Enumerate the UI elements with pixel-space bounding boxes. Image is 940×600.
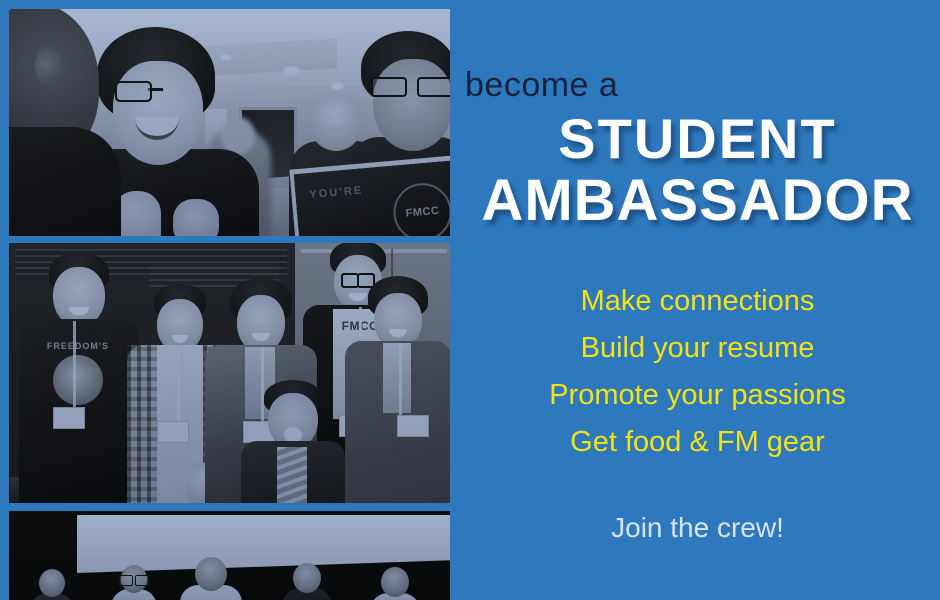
name-badge bbox=[397, 415, 429, 437]
reading-student-face bbox=[373, 59, 450, 151]
glasses-icon bbox=[119, 575, 149, 584]
head bbox=[381, 567, 409, 597]
smiling-student-face bbox=[113, 61, 203, 165]
ceiling-light-icon bbox=[220, 54, 232, 61]
name-badge bbox=[53, 407, 85, 429]
ear bbox=[35, 47, 61, 85]
benefit-item: Get food & FM gear bbox=[455, 419, 940, 466]
folder-text: YOU'RE bbox=[309, 184, 364, 201]
photo-student-ambassador-group: FMCC FREEDOM'S bbox=[9, 243, 450, 503]
benefit-item: Promote your passions bbox=[455, 372, 940, 419]
lanyard bbox=[177, 347, 180, 423]
head bbox=[39, 569, 65, 597]
fmcc-seal: FMCC bbox=[391, 181, 450, 236]
name-badge bbox=[157, 421, 189, 443]
background-student-head bbox=[309, 93, 363, 151]
benefits-list: Make connections Build your resume Promo… bbox=[455, 278, 940, 466]
photo-2-scene: FMCC FREEDOM'S bbox=[9, 243, 450, 503]
hand bbox=[173, 199, 219, 236]
page-title: STUDENT AMBASSADOR bbox=[455, 108, 940, 232]
student-left: FREEDOM'S bbox=[19, 261, 139, 503]
photo-3-scene bbox=[9, 511, 450, 600]
call-to-action-text: Join the crew! bbox=[455, 512, 940, 544]
shirt bbox=[383, 343, 411, 413]
photo-students-in-auditorium bbox=[9, 511, 450, 600]
glasses-icon bbox=[115, 81, 201, 98]
photo-collage: YOU'RE FMCC bbox=[0, 0, 455, 600]
hoodie-graphic bbox=[53, 355, 103, 405]
lanyard bbox=[73, 321, 76, 409]
scarf bbox=[277, 447, 307, 503]
hoodie-text: FREEDOM'S bbox=[45, 341, 111, 351]
ceiling-light-icon bbox=[331, 82, 344, 90]
seal-label: FMCC bbox=[405, 205, 440, 220]
lanyard bbox=[399, 343, 402, 417]
head bbox=[195, 557, 227, 591]
headline-line-2: AMBASSADOR bbox=[455, 170, 940, 232]
face bbox=[53, 267, 105, 327]
fmcc-folder: YOU'RE FMCC bbox=[294, 160, 450, 236]
poster-text-panel: become a STUDENT AMBASSADOR Make connect… bbox=[455, 0, 940, 600]
foreground-student-body bbox=[9, 127, 121, 236]
plaid-shirt-left bbox=[127, 345, 157, 503]
student-right bbox=[345, 285, 450, 503]
head bbox=[293, 563, 321, 593]
glasses-icon bbox=[371, 77, 450, 93]
photo-1-scene: YOU'RE FMCC bbox=[9, 9, 450, 236]
student-front-crouching bbox=[241, 389, 345, 503]
glasses-icon bbox=[341, 273, 375, 284]
benefit-item: Make connections bbox=[455, 278, 940, 325]
student-ambassador-poster: YOU'RE FMCC bbox=[0, 0, 940, 600]
eyebrow-text: become a bbox=[465, 66, 618, 105]
benefit-item: Build your resume bbox=[455, 325, 940, 372]
photo-students-talking-in-lounge: YOU'RE FMCC bbox=[9, 9, 450, 236]
ceiling-light-icon bbox=[283, 66, 300, 76]
headline-line-1: STUDENT bbox=[558, 107, 836, 170]
